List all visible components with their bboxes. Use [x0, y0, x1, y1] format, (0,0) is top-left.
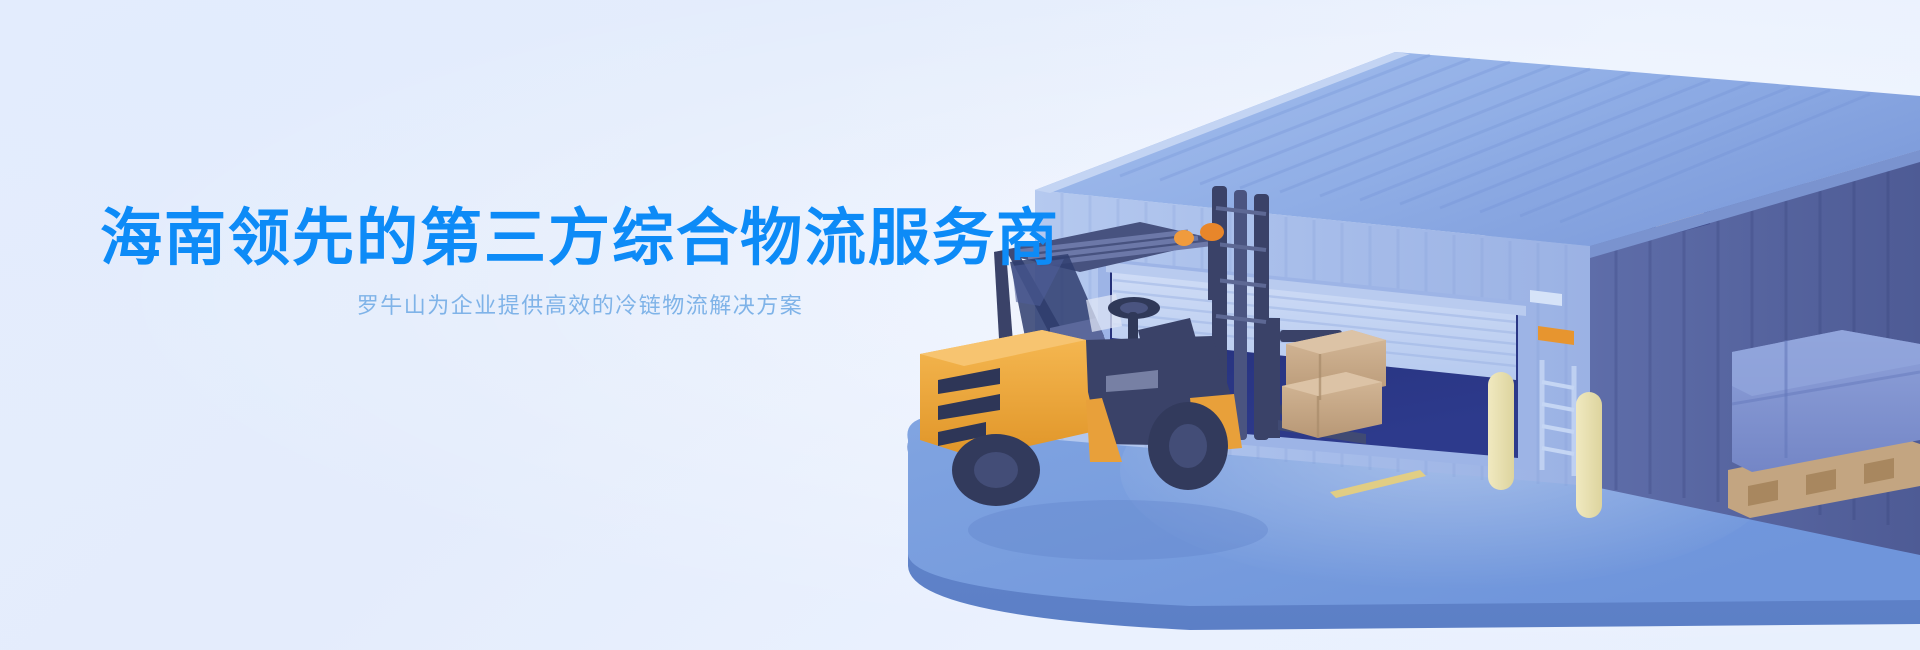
warehouse-forklift-illustration	[890, 0, 1920, 650]
bollard-right	[1576, 392, 1602, 518]
page-title: 海南领先的第三方综合物流服务商	[0, 205, 1160, 273]
forklift-lever-knob-b	[1174, 230, 1194, 246]
page-subtitle: 罗牛山为企业提供高效的冷链物流解决方案	[0, 291, 1160, 322]
cargo-cartons	[1282, 330, 1386, 438]
forklift-shadow	[968, 500, 1268, 560]
bollard-left	[1488, 372, 1514, 490]
hero-banner: 海南领先的第三方综合物流服务商 罗牛山为企业提供高效的冷链物流解决方案	[0, 0, 1920, 650]
forklift-front-wheel	[1148, 402, 1228, 490]
forklift-rear-wheel	[952, 434, 1040, 506]
forklift-lever-knob-a	[1200, 223, 1224, 241]
hero-copy: 海南领先的第三方综合物流服务商 罗牛山为企业提供高效的冷链物流解决方案	[0, 205, 1160, 322]
pallet-stack	[1728, 330, 1920, 518]
